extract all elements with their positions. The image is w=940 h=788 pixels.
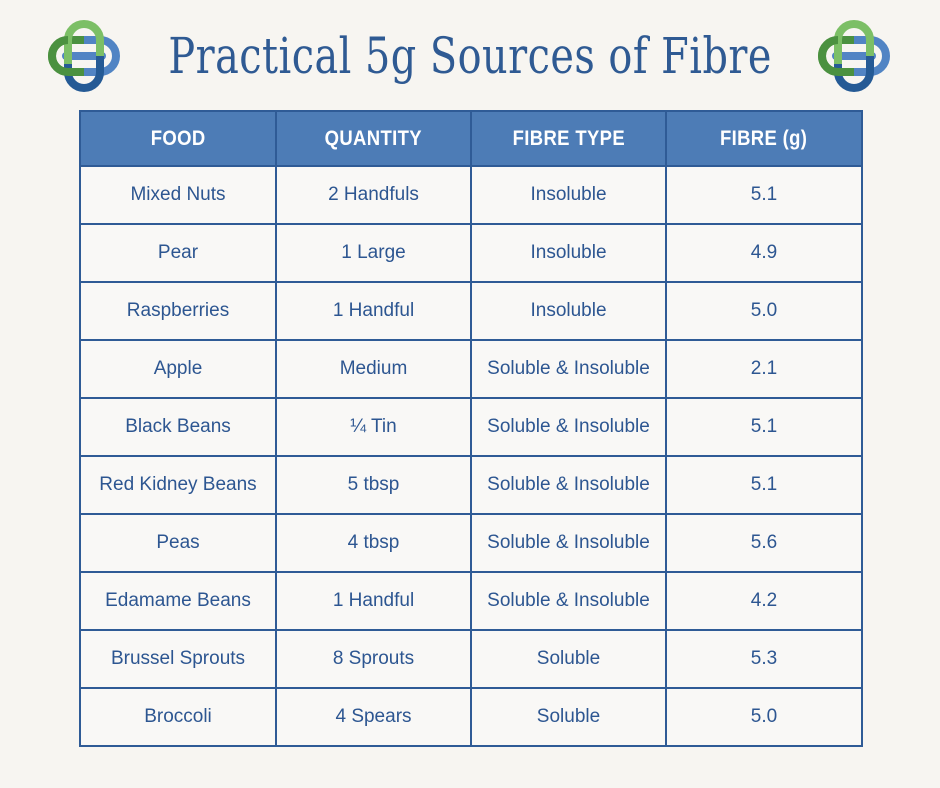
column-header-quantity-label: QUANTITY — [325, 127, 422, 151]
cell-quantity: 1 Large — [276, 224, 471, 282]
cell-quantity: Medium — [276, 340, 471, 398]
cell-fibre-grams-text: 4.9 — [671, 242, 857, 263]
table-row: Red Kidney Beans5 tbspSoluble & Insolubl… — [80, 456, 862, 514]
cell-fibre-type: Insoluble — [471, 166, 666, 224]
column-header-food: FOOD — [80, 111, 276, 166]
column-header-fibre-type-label: FIBRE TYPE — [512, 127, 624, 151]
cell-quantity: 1 Handful — [276, 572, 471, 630]
cell-fibre-grams: 2.1 — [666, 340, 862, 398]
cell-fibre-grams: 5.6 — [666, 514, 862, 572]
cell-fibre-type: Soluble & Insoluble — [471, 456, 666, 514]
table-row: Raspberries1 HandfulInsoluble5.0 — [80, 282, 862, 340]
cell-fibre-grams-text: 5.0 — [671, 300, 857, 321]
cell-fibre-grams-text: 5.3 — [671, 648, 857, 669]
cell-fibre-grams-text: 5.0 — [671, 706, 857, 727]
cell-fibre-type: Soluble — [471, 688, 666, 746]
cell-food: Raspberries — [80, 282, 276, 340]
cell-quantity-text: 2 Handfuls — [281, 184, 466, 205]
cell-fibre-grams: 5.1 — [666, 456, 862, 514]
cell-quantity: 8 Sprouts — [276, 630, 471, 688]
clover-cross-logo-icon — [814, 16, 894, 96]
cell-fibre-type: Insoluble — [471, 224, 666, 282]
cell-fibre-grams-text: 5.6 — [671, 532, 857, 553]
table-body: Mixed Nuts2 HandfulsInsoluble5.1Pear1 La… — [80, 166, 862, 746]
cell-food: Mixed Nuts — [80, 166, 276, 224]
cell-fibre-type: Soluble & Insoluble — [471, 514, 666, 572]
cell-fibre-grams-text: 5.1 — [671, 184, 857, 205]
cell-fibre-grams: 5.1 — [666, 398, 862, 456]
cell-quantity: 4 Spears — [276, 688, 471, 746]
cell-food-text: Broccoli — [85, 706, 271, 727]
column-header-fibre-grams: FIBRE (g) — [666, 111, 862, 166]
cell-quantity-text: Medium — [281, 358, 466, 379]
table-row: Brussel Sprouts8 SproutsSoluble5.3 — [80, 630, 862, 688]
cell-food: Black Beans — [80, 398, 276, 456]
cell-food-text: Red Kidney Beans — [85, 474, 271, 495]
cell-food-text: Peas — [85, 532, 271, 553]
poster-header: Practical 5g Sources of Fibre — [0, 0, 940, 110]
cell-quantity-text: 8 Sprouts — [281, 648, 466, 669]
cell-food-text: Pear — [85, 242, 271, 263]
cell-quantity: 4 tbsp — [276, 514, 471, 572]
table-row: Edamame Beans1 HandfulSoluble & Insolubl… — [80, 572, 862, 630]
cell-fibre-grams: 5.3 — [666, 630, 862, 688]
cell-fibre-type-text: Soluble & Insoluble — [476, 590, 661, 611]
cell-fibre-type-text: Insoluble — [476, 242, 661, 263]
cell-fibre-grams: 5.1 — [666, 166, 862, 224]
cell-fibre-type: Soluble & Insoluble — [471, 340, 666, 398]
cell-food-text: Apple — [85, 358, 271, 379]
table-row: Broccoli4 SpearsSoluble5.0 — [80, 688, 862, 746]
cell-quantity-text: 4 tbsp — [281, 532, 466, 553]
table-header-row: FOOD QUANTITY FIBRE TYPE FIBRE (g) — [80, 111, 862, 166]
cell-food: Broccoli — [80, 688, 276, 746]
cell-quantity: 5 tbsp — [276, 456, 471, 514]
cell-food: Peas — [80, 514, 276, 572]
cell-fibre-grams: 5.0 — [666, 282, 862, 340]
table-header: FOOD QUANTITY FIBRE TYPE FIBRE (g) — [80, 111, 862, 166]
cell-quantity-text: 4 Spears — [281, 706, 466, 727]
cell-food-text: Mixed Nuts — [85, 184, 271, 205]
cell-fibre-type-text: Soluble & Insoluble — [476, 358, 661, 379]
column-header-food-label: FOOD — [151, 127, 206, 151]
cell-fibre-type-text: Soluble — [476, 648, 661, 669]
cell-food-text: Brussel Sprouts — [85, 648, 271, 669]
cell-fibre-type-text: Soluble — [476, 706, 661, 727]
page-title: Practical 5g Sources of Fibre — [168, 31, 772, 81]
table-row: Black Beans¼ TinSoluble & Insoluble5.1 — [80, 398, 862, 456]
cell-food-text: Black Beans — [85, 416, 271, 437]
cell-quantity: 2 Handfuls — [276, 166, 471, 224]
cell-food: Red Kidney Beans — [80, 456, 276, 514]
cell-quantity-text: 1 Large — [281, 242, 466, 263]
cell-fibre-type-text: Soluble & Insoluble — [476, 474, 661, 495]
cell-fibre-type-text: Insoluble — [476, 300, 661, 321]
cell-fibre-grams-text: 5.1 — [671, 416, 857, 437]
cell-fibre-type-text: Soluble & Insoluble — [476, 416, 661, 437]
cell-quantity: 1 Handful — [276, 282, 471, 340]
cell-fibre-type: Insoluble — [471, 282, 666, 340]
column-header-fibre-grams-label: FIBRE (g) — [720, 127, 807, 151]
cell-fibre-type-text: Soluble & Insoluble — [476, 532, 661, 553]
table-row: Peas4 tbspSoluble & Insoluble5.6 — [80, 514, 862, 572]
cell-food-text: Edamame Beans — [85, 590, 271, 611]
clover-cross-logo-icon — [44, 16, 124, 96]
cell-fibre-grams-text: 2.1 — [671, 358, 857, 379]
cell-food: Brussel Sprouts — [80, 630, 276, 688]
cell-fibre-grams: 5.0 — [666, 688, 862, 746]
cell-fibre-grams: 4.9 — [666, 224, 862, 282]
fibre-sources-table: FOOD QUANTITY FIBRE TYPE FIBRE (g) Mixed… — [79, 110, 863, 747]
cell-food: Pear — [80, 224, 276, 282]
cell-quantity-text: 1 Handful — [281, 590, 466, 611]
cell-food: Edamame Beans — [80, 572, 276, 630]
cell-quantity-text: ¼ Tin — [281, 416, 466, 437]
table-row: Mixed Nuts2 HandfulsInsoluble5.1 — [80, 166, 862, 224]
column-header-fibre-type: FIBRE TYPE — [471, 111, 666, 166]
cell-food-text: Raspberries — [85, 300, 271, 321]
cell-fibre-grams-text: 5.1 — [671, 474, 857, 495]
cell-quantity: ¼ Tin — [276, 398, 471, 456]
table-row: Pear1 LargeInsoluble4.9 — [80, 224, 862, 282]
cell-quantity-text: 5 tbsp — [281, 474, 466, 495]
poster-page: Practical 5g Sources of Fibre — [0, 0, 940, 788]
cell-quantity-text: 1 Handful — [281, 300, 466, 321]
fibre-sources-table-wrapper: FOOD QUANTITY FIBRE TYPE FIBRE (g) Mixed… — [79, 110, 861, 747]
cell-fibre-type: Soluble & Insoluble — [471, 398, 666, 456]
table-row: AppleMediumSoluble & Insoluble2.1 — [80, 340, 862, 398]
column-header-quantity: QUANTITY — [276, 111, 471, 166]
cell-fibre-type: Soluble & Insoluble — [471, 572, 666, 630]
cell-fibre-grams-text: 4.2 — [671, 590, 857, 611]
cell-food: Apple — [80, 340, 276, 398]
cell-fibre-type-text: Insoluble — [476, 184, 661, 205]
cell-fibre-type: Soluble — [471, 630, 666, 688]
cell-fibre-grams: 4.2 — [666, 572, 862, 630]
